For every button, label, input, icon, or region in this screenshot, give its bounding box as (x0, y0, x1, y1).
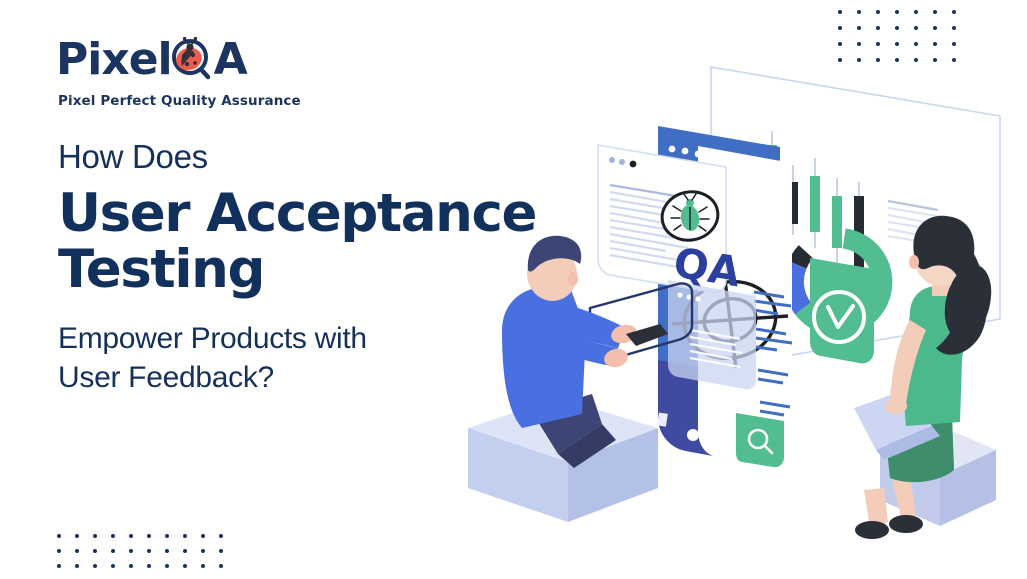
check-circle-icon (810, 258, 874, 363)
decorative-dot (147, 534, 151, 538)
decorative-dot (933, 10, 937, 14)
decorative-dot (838, 10, 842, 14)
decorative-dot (183, 534, 187, 538)
decorative-dot (111, 534, 115, 538)
brand-tagline: Pixel Perfect Quality Assurance (58, 93, 301, 109)
decorative-dot (201, 534, 205, 538)
decorative-dot (219, 534, 223, 538)
decorative-dot (914, 10, 918, 14)
decorative-dot (93, 534, 97, 538)
logo-text-pixel: Pixel (56, 38, 172, 82)
decorative-dot (201, 549, 205, 553)
decorative-dot (952, 10, 956, 14)
decorative-dot (183, 564, 187, 568)
blog-banner: Pixel (0, 0, 1027, 579)
decorative-dot (75, 564, 79, 568)
decorative-dot (75, 549, 79, 553)
decorative-dot (857, 10, 861, 14)
decorative-dots-bottom-left (57, 534, 237, 579)
decorative-dot (93, 564, 97, 568)
decorative-dot (876, 10, 880, 14)
decorative-dot (147, 549, 151, 553)
decorative-dot (201, 564, 205, 568)
brand-logo[interactable]: Pixel (56, 36, 301, 109)
decorative-dot (57, 534, 61, 538)
decorative-dot (165, 564, 169, 568)
decorative-dot (57, 549, 61, 553)
decorative-dot (165, 549, 169, 553)
decorative-dot (57, 564, 61, 568)
pale-inner-card (668, 280, 756, 389)
decorative-dot (219, 564, 223, 568)
qa-content-card: QA (598, 145, 744, 296)
decorative-dot (111, 549, 115, 553)
decorative-dot (165, 534, 169, 538)
magnifier-search-icon (736, 413, 784, 467)
isometric-uat-illustration: QA (440, 30, 1027, 570)
decorative-dot (219, 549, 223, 553)
decorative-dot (129, 549, 133, 553)
logo-wordmark: Pixel (56, 36, 301, 84)
decorative-dot (129, 564, 133, 568)
ladybug-magnifier-icon (170, 36, 216, 84)
decorative-dot (183, 549, 187, 553)
decorative-dot (93, 549, 97, 553)
logo-text-a: A (214, 38, 247, 82)
decorative-dot (75, 534, 79, 538)
decorative-dot (129, 534, 133, 538)
decorative-dot (147, 564, 151, 568)
decorative-dot (895, 10, 899, 14)
decorative-dot (111, 564, 115, 568)
